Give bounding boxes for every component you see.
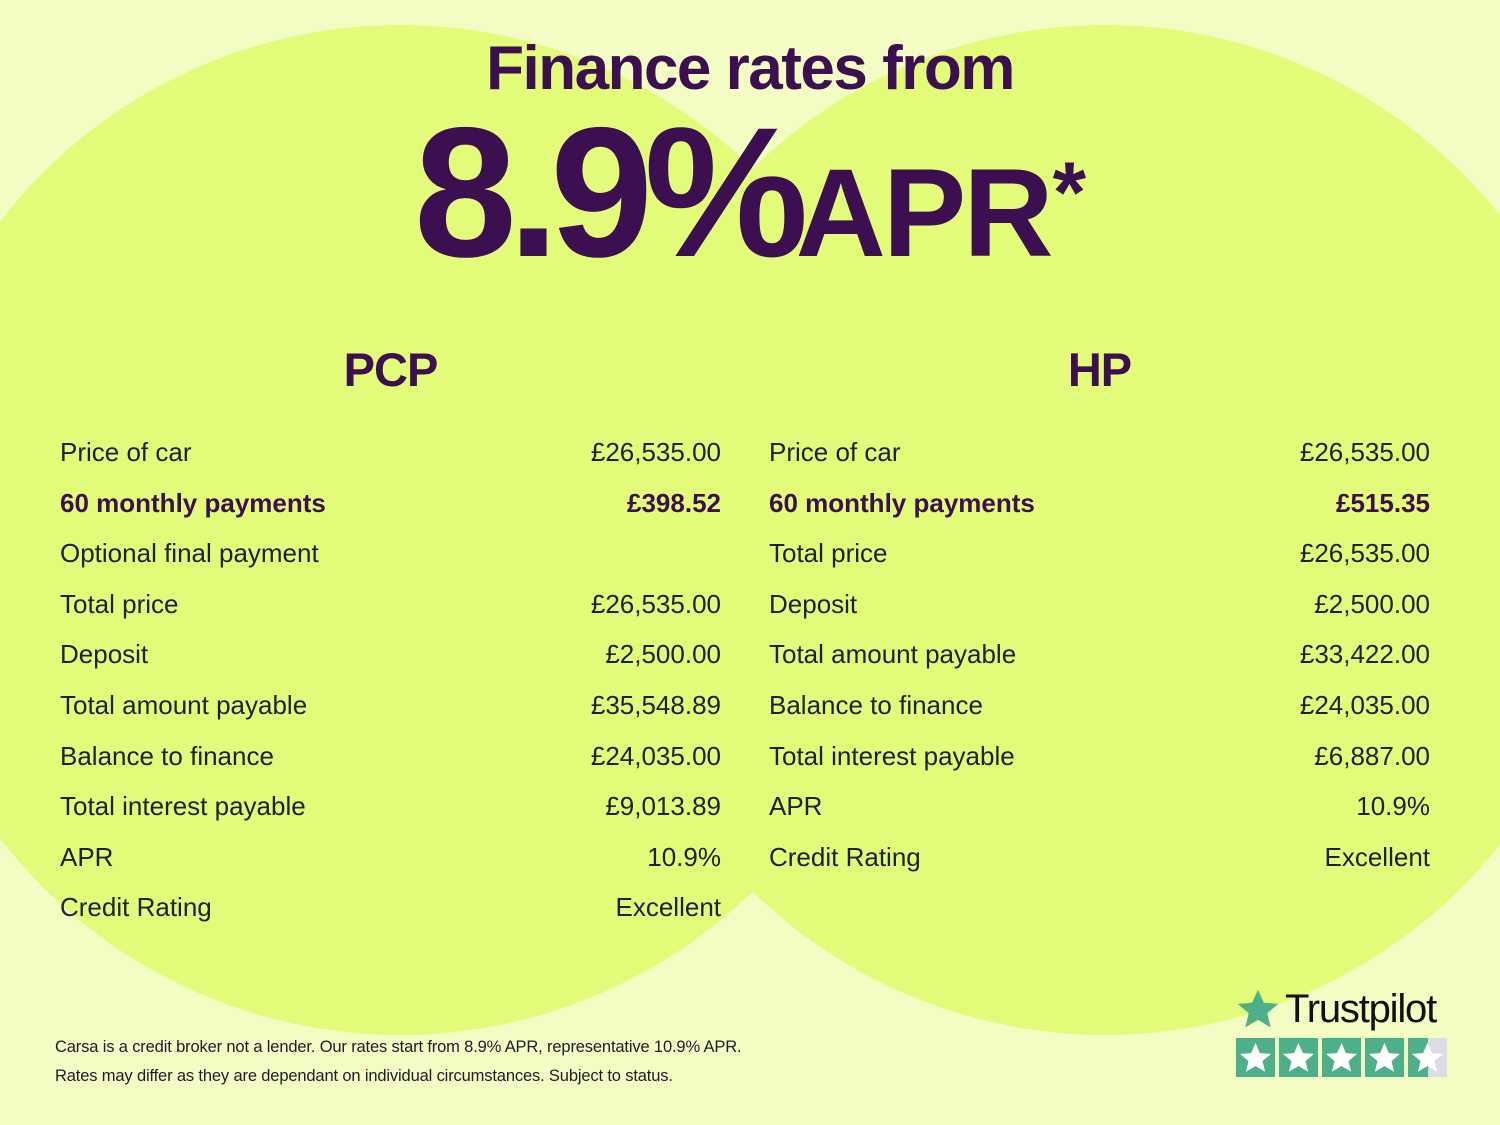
row-label: Total price (60, 579, 504, 630)
row-label: Total interest payable (769, 731, 1213, 782)
row-value: £6,887.00 (1213, 731, 1430, 782)
headline-rate: 8.9% APR * (0, 101, 1500, 286)
row-label: Optional final payment (60, 528, 504, 579)
header: Finance rates from 8.9% APR * (0, 0, 1500, 286)
row-label: Total interest payable (60, 781, 504, 832)
table-row: Credit RatingExcellent (769, 832, 1430, 883)
finance-column-pcp: PCP Price of car£26,535.0060 monthly pay… (36, 342, 745, 933)
finance-rates-card: Finance rates from 8.9% APR * PCP Price … (0, 0, 1500, 1125)
row-value: £26,535.00 (504, 427, 721, 478)
row-value: Excellent (504, 882, 721, 933)
row-label: Balance to finance (60, 731, 504, 782)
row-value: £24,035.00 (1213, 680, 1430, 731)
trustpilot-star-icon (1236, 987, 1280, 1031)
star-icon (1236, 1038, 1275, 1077)
table-row: Total amount payable£33,422.00 (769, 629, 1430, 680)
row-label: Total amount payable (60, 680, 504, 731)
disclaimer-line-1: Carsa is a credit broker not a lender. O… (55, 1033, 741, 1062)
table-row: Total interest payable£6,887.00 (769, 731, 1430, 782)
row-value: Excellent (1213, 832, 1430, 883)
row-value: 10.9% (1213, 781, 1430, 832)
column-title-hp: HP (769, 342, 1430, 397)
trustpilot-rating-stars (1236, 1038, 1448, 1077)
row-value (504, 528, 721, 579)
rate-unit: APR (796, 151, 1051, 276)
row-label: Deposit (60, 629, 504, 680)
table-row: APR10.9% (60, 832, 721, 883)
row-value: £398.52 (504, 478, 721, 529)
table-row: Total interest payable£9,013.89 (60, 781, 721, 832)
row-value: £26,535.00 (1213, 427, 1430, 478)
table-row: 60 monthly payments£398.52 (60, 478, 721, 529)
row-label: 60 monthly payments (769, 478, 1213, 529)
table-row: APR10.9% (769, 781, 1430, 832)
row-label: 60 monthly payments (60, 478, 504, 529)
table-row: Total price£26,535.00 (60, 579, 721, 630)
row-label: Total amount payable (769, 629, 1213, 680)
column-title-pcp: PCP (60, 342, 721, 397)
row-value: £515.35 (1213, 478, 1430, 529)
row-value: £2,500.00 (1213, 579, 1430, 630)
rating-star-full (1279, 1038, 1318, 1077)
row-label: Total price (769, 528, 1213, 579)
trustpilot-logo: Trustpilot (1236, 987, 1448, 1031)
table-row: Optional final payment (60, 528, 721, 579)
asterisk-marker: * (1053, 150, 1086, 236)
row-value: £26,535.00 (1213, 528, 1430, 579)
row-label: Credit Rating (60, 882, 504, 933)
table-row: Deposit£2,500.00 (60, 629, 721, 680)
rating-star-half (1408, 1038, 1447, 1077)
star-icon (1322, 1038, 1361, 1077)
trustpilot-wordmark: Trustpilot (1285, 989, 1436, 1029)
finance-table-pcp: Price of car£26,535.0060 monthly payment… (60, 427, 721, 933)
rate-value: 8.9% (414, 101, 800, 286)
rating-star-full (1236, 1038, 1275, 1077)
table-row: Price of car£26,535.00 (769, 427, 1430, 478)
table-row: Balance to finance£24,035.00 (60, 731, 721, 782)
row-value: £2,500.00 (504, 629, 721, 680)
rating-star-full (1322, 1038, 1361, 1077)
star-icon (1408, 1038, 1447, 1077)
table-row: Total amount payable£35,548.89 (60, 680, 721, 731)
disclaimer-line-2: Rates may differ as they are dependant o… (55, 1062, 741, 1091)
finance-column-hp: HP Price of car£26,535.0060 monthly paym… (745, 342, 1454, 933)
row-value: £35,548.89 (504, 680, 721, 731)
row-value: 10.9% (504, 832, 721, 883)
table-row: 60 monthly payments£515.35 (769, 478, 1430, 529)
star-icon (1365, 1038, 1404, 1077)
rating-star-full (1365, 1038, 1404, 1077)
row-label: APR (769, 781, 1213, 832)
finance-table-hp-body: Price of car£26,535.0060 monthly payment… (769, 427, 1430, 882)
row-label: APR (60, 832, 504, 883)
row-value: £33,422.00 (1213, 629, 1430, 680)
row-label: Deposit (769, 579, 1213, 630)
table-row: Deposit£2,500.00 (769, 579, 1430, 630)
table-row: Credit RatingExcellent (60, 882, 721, 933)
row-value: £26,535.00 (504, 579, 721, 630)
table-row: Balance to finance£24,035.00 (769, 680, 1430, 731)
row-value: £24,035.00 (504, 731, 721, 782)
row-label: Credit Rating (769, 832, 1213, 883)
finance-table-pcp-body: Price of car£26,535.0060 monthly payment… (60, 427, 721, 933)
finance-table-hp: Price of car£26,535.0060 monthly payment… (769, 427, 1430, 882)
finance-columns: PCP Price of car£26,535.0060 monthly pay… (0, 342, 1500, 933)
table-row: Total price£26,535.00 (769, 528, 1430, 579)
row-label: Price of car (769, 427, 1213, 478)
disclaimer: Carsa is a credit broker not a lender. O… (55, 1033, 741, 1091)
row-label: Balance to finance (769, 680, 1213, 731)
table-row: Price of car£26,535.00 (60, 427, 721, 478)
row-label: Price of car (60, 427, 504, 478)
star-icon (1279, 1038, 1318, 1077)
row-value: £9,013.89 (504, 781, 721, 832)
trustpilot-badge[interactable]: Trustpilot (1236, 987, 1448, 1077)
